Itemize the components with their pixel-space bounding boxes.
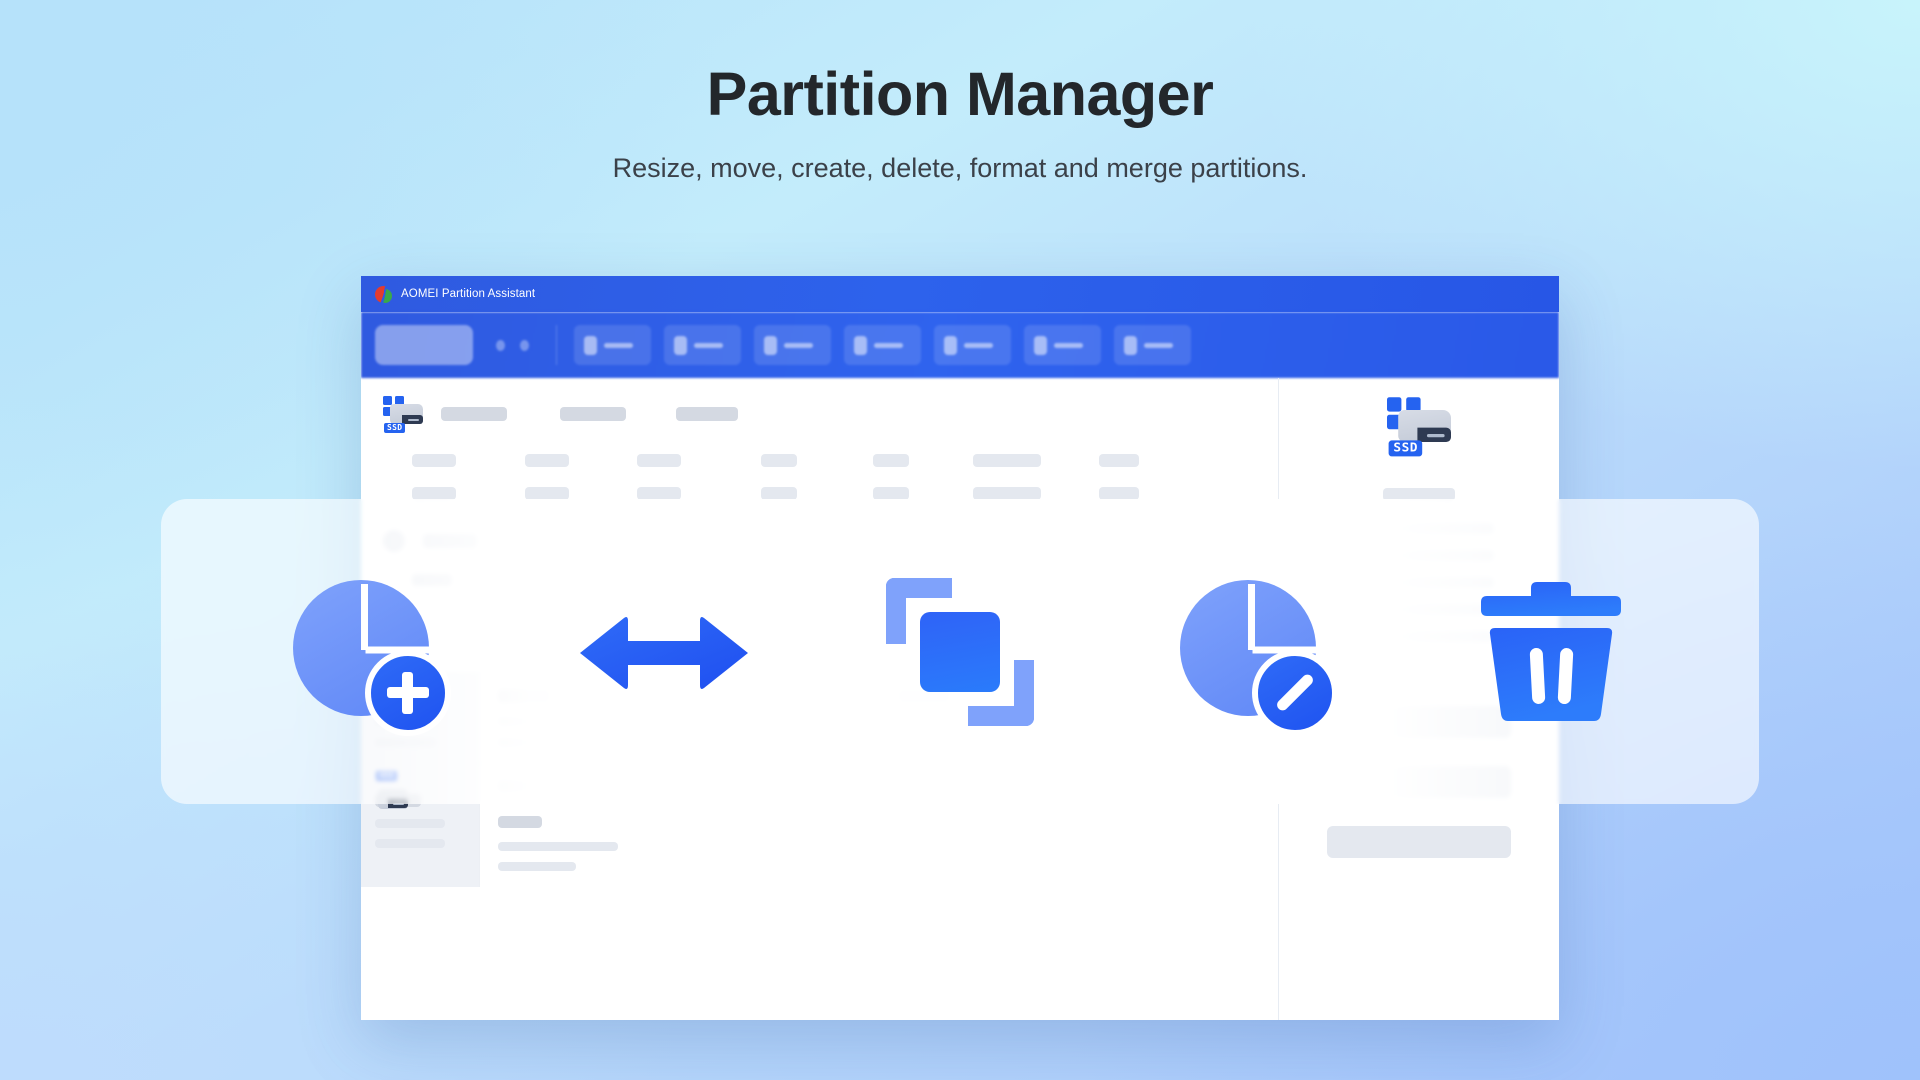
toolbar-button[interactable]: [664, 325, 741, 365]
toolbar-status-dots: [486, 340, 539, 351]
window-titlebar: AOMEI Partition Assistant: [361, 276, 1559, 312]
aomei-pie-logo-icon: [375, 286, 392, 303]
feature-delete-partition[interactable]: [1471, 572, 1631, 732]
toolbar-button[interactable]: [1024, 325, 1101, 365]
toolbar-button[interactable]: [754, 325, 831, 365]
toolbar-dot: [496, 340, 505, 351]
detail-panel-row[interactable]: [1327, 826, 1511, 858]
toolbar-divider: [556, 325, 557, 365]
toolbar-button[interactable]: [934, 325, 1011, 365]
feature-resize-move[interactable]: [584, 572, 744, 732]
toolbar-button[interactable]: [1114, 325, 1191, 365]
toolbar-primary-button[interactable]: [375, 325, 473, 365]
disk-header-ssd[interactable]: SSD: [361, 378, 1278, 432]
feature-highlight-card: [161, 499, 1759, 804]
slash-badge-icon: [1252, 650, 1338, 736]
toolbar-button[interactable]: [844, 325, 921, 365]
feature-create-partition[interactable]: [289, 572, 449, 732]
hero-section: Partition Manager Resize, move, create, …: [0, 62, 1920, 184]
plus-badge-icon: [365, 650, 451, 736]
feature-merge-partitions[interactable]: [880, 572, 1040, 732]
disk-label-skeleton: [560, 407, 626, 421]
table-row: [361, 454, 1278, 467]
toolbar-button[interactable]: [574, 325, 651, 365]
page-title: Partition Manager: [0, 62, 1920, 126]
trash-icon: [1479, 580, 1623, 724]
ssd-drive-icon: SSD: [1387, 397, 1451, 455]
disk-label-skeleton: [676, 407, 738, 421]
toolbar-dot: [520, 340, 529, 351]
window-title: AOMEI Partition Assistant: [401, 288, 535, 300]
merge-squares-icon: [886, 578, 1034, 726]
app-toolbar[interactable]: [361, 312, 1559, 378]
double-arrow-icon: [580, 614, 748, 692]
feature-format-partition[interactable]: [1176, 572, 1336, 732]
ssd-drive-icon: SSD: [383, 396, 423, 432]
disk-label-skeleton: [441, 407, 507, 421]
page-subtitle: Resize, move, create, delete, format and…: [0, 153, 1920, 184]
